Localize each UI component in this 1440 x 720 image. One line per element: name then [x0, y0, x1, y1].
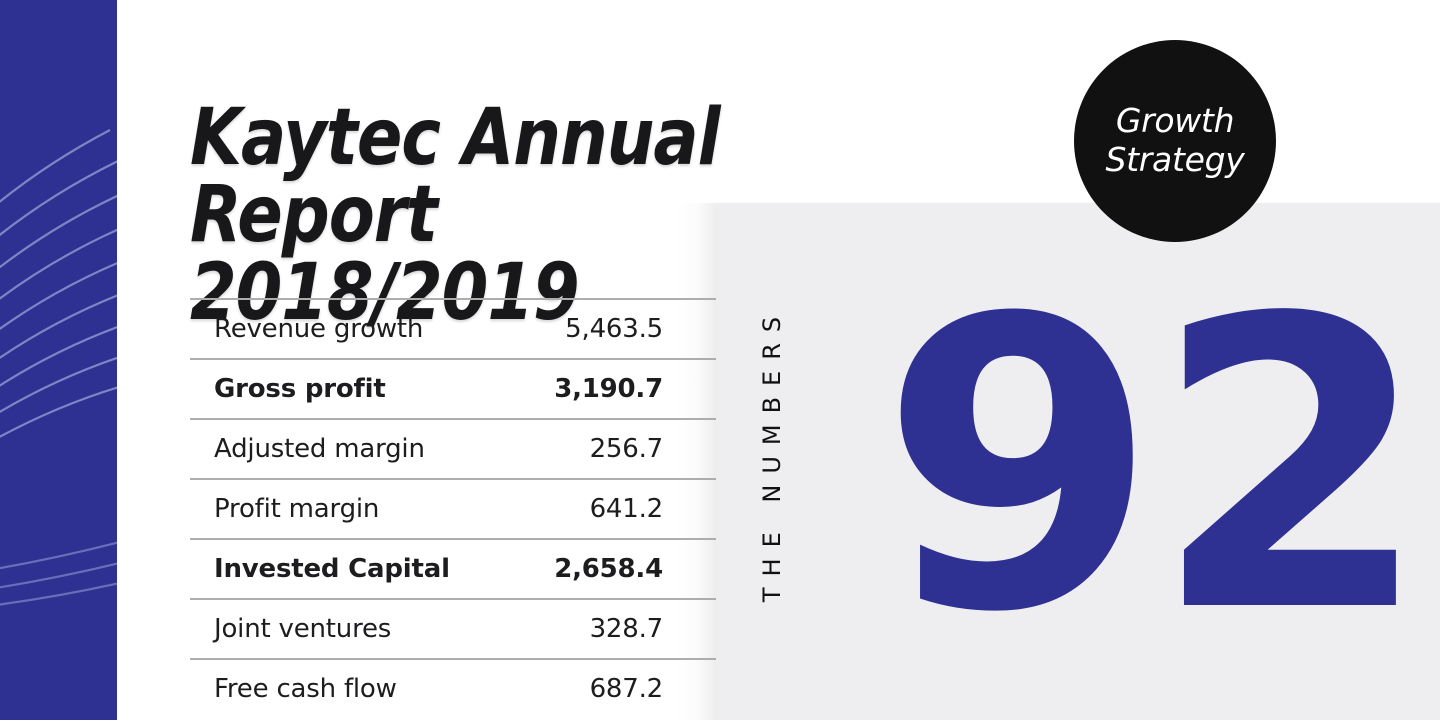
table-row: Revenue growth 5,463.5 [190, 298, 716, 358]
metric-label: Invested Capital [214, 554, 450, 584]
metric-value: 5,463.5 [565, 314, 663, 344]
metric-value: 256.7 [590, 434, 663, 464]
metric-label: Profit margin [214, 494, 379, 524]
growth-strategy-badge: Growth Strategy [1074, 40, 1276, 242]
guilloche-pattern-icon [0, 120, 117, 620]
metric-label: Adjusted margin [214, 434, 425, 464]
metric-value: 328.7 [590, 614, 663, 644]
metrics-table: Revenue growth 5,463.5 Gross profit 3,19… [190, 298, 716, 718]
table-row: Free cash flow 687.2 [190, 658, 716, 718]
table-row: Profit margin 641.2 [190, 478, 716, 538]
metric-label: Revenue growth [214, 314, 423, 344]
vertical-section-caption: THE NUMBERS [752, 284, 792, 624]
metric-value: 3,190.7 [554, 374, 663, 404]
metric-label: Gross profit [214, 374, 386, 404]
metric-value: 687.2 [590, 674, 663, 704]
decorative-blue-band [0, 0, 117, 720]
badge-line-2: Strategy [1106, 141, 1245, 180]
metric-label: Free cash flow [214, 674, 397, 704]
metric-value: 641.2 [590, 494, 663, 524]
metric-value: 2,658.4 [554, 554, 663, 584]
headline-statistic: 92 [880, 268, 1380, 668]
table-row: Gross profit 3,190.7 [190, 358, 716, 418]
table-row: Invested Capital 2,658.4 [190, 538, 716, 598]
vertical-caption-text: THE NUMBERS [758, 306, 786, 602]
annual-report-poster: Kaytec Annual Report 2018/2019 Revenue g… [0, 0, 1440, 720]
table-row: Joint ventures 328.7 [190, 598, 716, 658]
badge-line-1: Growth [1116, 102, 1234, 141]
metric-label: Joint ventures [214, 614, 391, 644]
table-row: Adjusted margin 256.7 [190, 418, 716, 478]
